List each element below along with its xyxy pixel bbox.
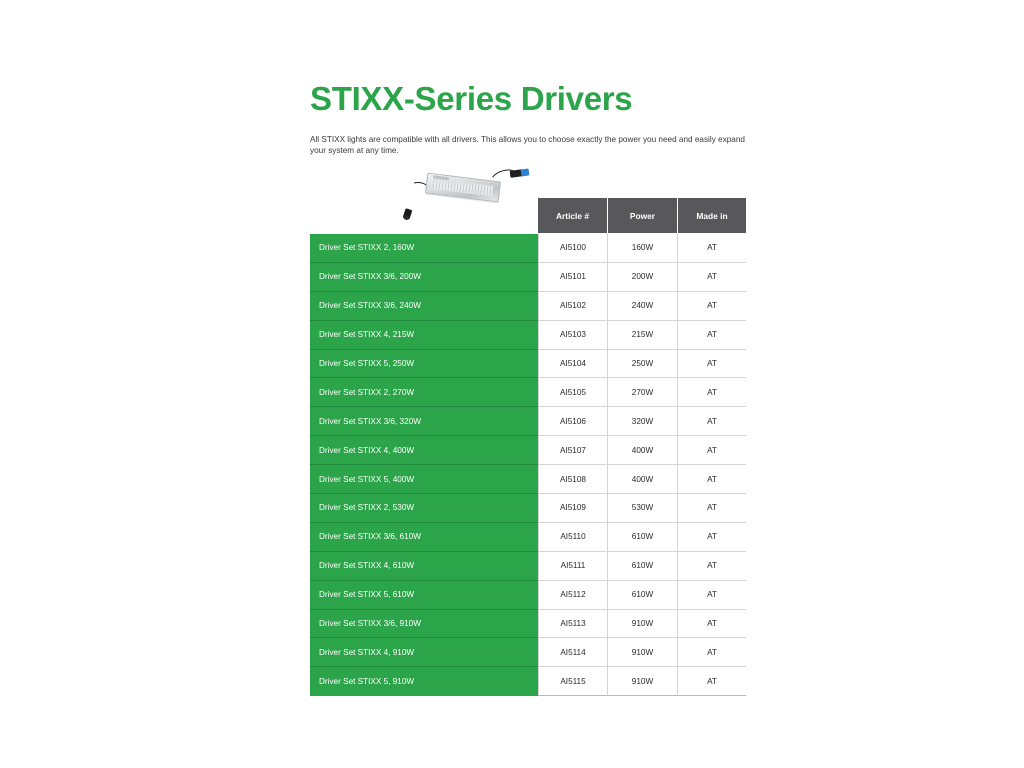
table-row: Driver Set STIXX 5, 400WAI5108400WAT <box>310 465 746 494</box>
table-row: Driver Set STIXX 5, 250WAI5104250WAT <box>310 350 746 379</box>
cell-product-name: Driver Set STIXX 2, 160W <box>310 234 538 263</box>
table-row: Driver Set STIXX 4, 610WAI5111610WAT <box>310 552 746 581</box>
table-row: Driver Set STIXX 2, 160WAI5100160WAT <box>310 234 746 263</box>
cell-article-number: AI5115 <box>538 667 607 696</box>
cell-product-name: Driver Set STIXX 5, 250W <box>310 350 538 379</box>
cell-power: 610W <box>607 523 677 552</box>
cell-power: 200W <box>607 263 677 292</box>
table-row: Driver Set STIXX 4, 910WAI5114910WAT <box>310 638 746 667</box>
cell-made-in: AT <box>677 407 746 436</box>
cell-product-name: Driver Set STIXX 4, 910W <box>310 638 538 667</box>
cell-article-number: AI5114 <box>538 638 607 667</box>
cell-product-name: Driver Set STIXX 3/6, 240W <box>310 292 538 321</box>
cell-product-name: Driver Set STIXX 5, 910W <box>310 667 538 696</box>
table-row: Driver Set STIXX 3/6, 200WAI5101200WAT <box>310 263 746 292</box>
cell-made-in: AT <box>677 292 746 321</box>
cell-made-in: AT <box>677 321 746 350</box>
cell-product-name: Driver Set STIXX 3/6, 200W <box>310 263 538 292</box>
cell-made-in: AT <box>677 494 746 523</box>
cell-product-name: Driver Set STIXX 4, 610W <box>310 552 538 581</box>
cell-power: 250W <box>607 350 677 379</box>
cell-made-in: AT <box>677 465 746 494</box>
cell-article-number: AI5106 <box>538 407 607 436</box>
table-row: Driver Set STIXX 5, 610WAI5112610WAT <box>310 581 746 610</box>
table-row: Driver Set STIXX 3/6, 910WAI5113910WAT <box>310 610 746 639</box>
blue-connector-tip-icon <box>521 168 530 176</box>
cell-article-number: AI5112 <box>538 581 607 610</box>
cell-product-name: Driver Set STIXX 4, 215W <box>310 321 538 350</box>
cell-article-number: AI5107 <box>538 436 607 465</box>
column-header-made-in: Made in <box>677 198 746 233</box>
cell-product-name: Driver Set STIXX 2, 270W <box>310 378 538 407</box>
cell-made-in: AT <box>677 378 746 407</box>
column-header-power: Power <box>607 198 677 233</box>
table-header-row: Article # Power Made in <box>310 198 746 233</box>
page-title: STIXX-Series Drivers <box>310 80 632 118</box>
table-row: Driver Set STIXX 2, 530WAI5109530WAT <box>310 494 746 523</box>
table-row: Driver Set STIXX 3/6, 610WAI5110610WAT <box>310 523 746 552</box>
cell-power: 270W <box>607 378 677 407</box>
cell-power: 910W <box>607 667 677 696</box>
cell-made-in: AT <box>677 350 746 379</box>
drivers-table: Article # Power Made in Driver Set STIXX… <box>310 198 746 696</box>
cell-power: 215W <box>607 321 677 350</box>
cell-made-in: AT <box>677 667 746 696</box>
cell-made-in: AT <box>677 552 746 581</box>
table-row: Driver Set STIXX 4, 215WAI5103215WAT <box>310 321 746 350</box>
cell-product-name: Driver Set STIXX 3/6, 910W <box>310 610 538 639</box>
table-row: Driver Set STIXX 2, 270WAI5105270WAT <box>310 378 746 407</box>
cell-made-in: AT <box>677 263 746 292</box>
table-row: Driver Set STIXX 4, 400WAI5107400WAT <box>310 436 746 465</box>
cell-product-name: Driver Set STIXX 3/6, 320W <box>310 407 538 436</box>
cell-made-in: AT <box>677 523 746 552</box>
cell-article-number: AI5104 <box>538 350 607 379</box>
cell-product-name: Driver Set STIXX 4, 400W <box>310 436 538 465</box>
cell-power: 610W <box>607 552 677 581</box>
cell-product-name: Driver Set STIXX 5, 610W <box>310 581 538 610</box>
cell-product-name: Driver Set STIXX 5, 400W <box>310 465 538 494</box>
cell-power: 160W <box>607 234 677 263</box>
table-body: Driver Set STIXX 2, 160WAI5100160WATDriv… <box>310 233 746 696</box>
cell-made-in: AT <box>677 581 746 610</box>
cell-power: 400W <box>607 436 677 465</box>
cell-power: 910W <box>607 610 677 639</box>
cell-article-number: AI5108 <box>538 465 607 494</box>
cell-power: 530W <box>607 494 677 523</box>
driver-fins <box>433 178 494 196</box>
cell-power: 240W <box>607 292 677 321</box>
cell-made-in: AT <box>677 638 746 667</box>
cell-made-in: AT <box>677 436 746 465</box>
cell-power: 910W <box>607 638 677 667</box>
table-header-spacer <box>310 198 538 233</box>
cell-article-number: AI5113 <box>538 610 607 639</box>
cell-article-number: AI5103 <box>538 321 607 350</box>
table-row: Driver Set STIXX 5, 910WAI5115910WAT <box>310 667 746 696</box>
cell-article-number: AI5105 <box>538 378 607 407</box>
cell-article-number: AI5109 <box>538 494 607 523</box>
cell-article-number: AI5100 <box>538 234 607 263</box>
table-row: Driver Set STIXX 3/6, 320WAI5106320WAT <box>310 407 746 436</box>
table-row: Driver Set STIXX 3/6, 240WAI5102240WAT <box>310 292 746 321</box>
product-spec-page: STIXX-Series Drivers All STIXX lights ar… <box>0 0 1024 768</box>
cell-product-name: Driver Set STIXX 3/6, 610W <box>310 523 538 552</box>
cell-article-number: AI5101 <box>538 263 607 292</box>
cell-power: 400W <box>607 465 677 494</box>
cell-made-in: AT <box>677 610 746 639</box>
cell-made-in: AT <box>677 234 746 263</box>
column-header-article: Article # <box>538 198 607 233</box>
cell-power: 610W <box>607 581 677 610</box>
cell-article-number: AI5111 <box>538 552 607 581</box>
page-subtitle: All STIXX lights are compatible with all… <box>310 134 750 156</box>
cell-article-number: AI5110 <box>538 523 607 552</box>
cell-power: 320W <box>607 407 677 436</box>
cell-article-number: AI5102 <box>538 292 607 321</box>
cell-product-name: Driver Set STIXX 2, 530W <box>310 494 538 523</box>
